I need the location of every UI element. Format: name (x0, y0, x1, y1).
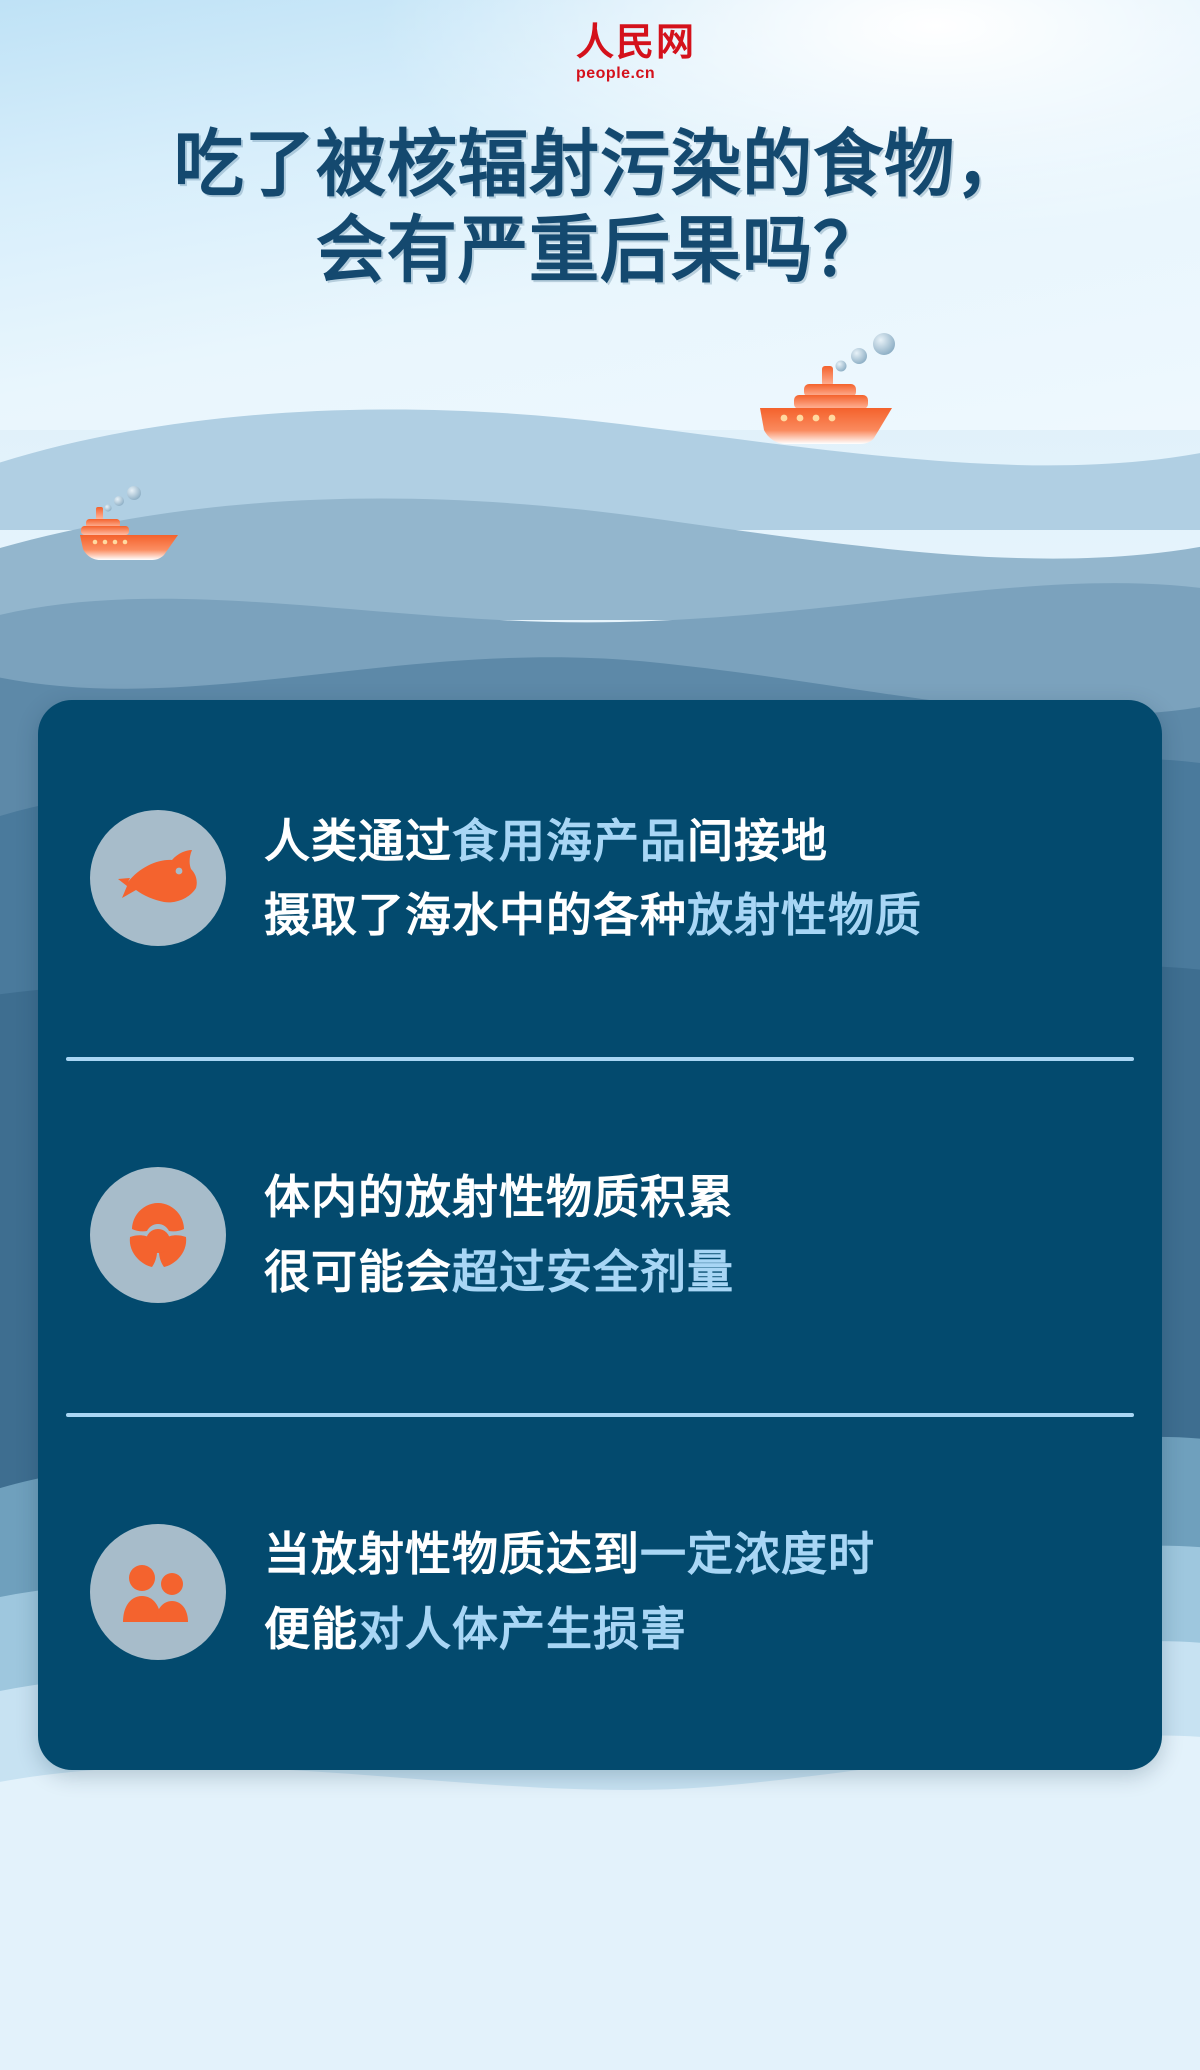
content-row-1-text: 人类通过食用海产品间接地 摄取了海水中的各种放射性物质 (264, 804, 1104, 953)
content-row-1: 人类通过食用海产品间接地 摄取了海水中的各种放射性物质 (38, 700, 1162, 1057)
text-segment: 当放射性物质达到 (264, 1527, 640, 1581)
content-row-2: 体内的放射性物质积累 很可能会超过安全剂量 (38, 1057, 1162, 1414)
people-icon (90, 1524, 226, 1660)
text-segment-highlight: 超过安全剂量 (452, 1245, 734, 1299)
text-line: 人类通过食用海产品间接地 (264, 804, 1104, 879)
content-row-list: 人类通过食用海产品间接地 摄取了海水中的各种放射性物质 (38, 700, 1162, 1770)
text-segment: 便能 (264, 1602, 358, 1656)
text-line: 体内的放射性物质积累 (264, 1160, 1104, 1235)
text-line: 很可能会超过安全剂量 (264, 1235, 1104, 1310)
title-line-1: 吃了被核辐射污染的食物， (24, 122, 1176, 208)
people-cn-swirl-logo-icon (504, 22, 566, 84)
text-segment: 很可能会 (264, 1245, 452, 1299)
page-title: 吃了被核辐射污染的食物， 会有严重后果吗？ (0, 122, 1200, 294)
ship-large (742, 330, 922, 450)
text-segment: 体内的放射性物质积累 (264, 1170, 734, 1224)
logo-name-cn: 人民网 (576, 23, 696, 61)
radiation-icon (90, 1167, 226, 1303)
text-segment: 间接地 (687, 814, 828, 868)
text-line: 当放射性物质达到一定浓度时 (264, 1517, 1104, 1592)
logo-text-block: 人民网 people.cn (576, 23, 696, 83)
content-row-2-text: 体内的放射性物质积累 很可能会超过安全剂量 (264, 1160, 1104, 1309)
text-segment-highlight: 一定浓度时 (640, 1527, 875, 1581)
poster-root: 人民网 people.cn 吃了被核辐射污染的食物， 会有严重后果吗？ 人类通过… (0, 0, 1200, 2070)
text-line: 便能对人体产生损害 (264, 1592, 1104, 1667)
content-row-3-text: 当放射性物质达到一定浓度时 便能对人体产生损害 (264, 1517, 1104, 1666)
fish-icon (90, 810, 226, 946)
text-segment: 人类通过 (264, 814, 452, 868)
content-card: 人类通过食用海产品间接地 摄取了海水中的各种放射性物质 (38, 700, 1162, 1770)
title-line-2: 会有严重后果吗？ (24, 208, 1176, 294)
ship-small (78, 483, 200, 565)
content-row-3: 当放射性物质达到一定浓度时 便能对人体产生损害 (38, 1413, 1162, 1770)
text-segment: 摄取了海水中的各种 (264, 888, 687, 942)
text-line: 摄取了海水中的各种放射性物质 (264, 878, 1104, 953)
text-segment-highlight: 对人体产生损害 (358, 1602, 687, 1656)
text-segment-highlight: 放射性物质 (687, 888, 922, 942)
logo-name-en: people.cn (576, 64, 655, 83)
site-logo[interactable]: 人民网 people.cn (0, 22, 1200, 84)
text-segment-highlight: 食用海产品 (452, 814, 687, 868)
